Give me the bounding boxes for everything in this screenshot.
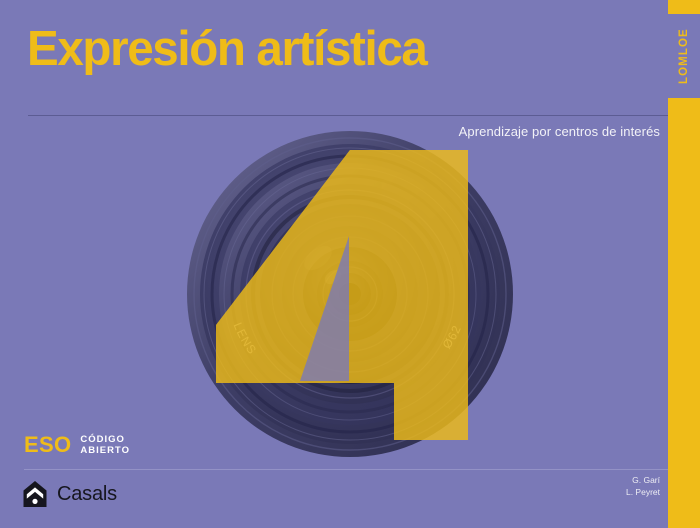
title-divider (28, 115, 668, 116)
subtitle: Aprendizaje por centros de interés (459, 124, 660, 139)
author-list: G. Garí L. Peyret (626, 474, 660, 498)
author-1: G. Garí (626, 474, 660, 486)
page-title: Expresión artística (27, 25, 427, 74)
author-2: L. Peyret (626, 486, 660, 498)
codigo-line2: ABIERTO (80, 445, 130, 456)
eso-brand-block: ESO CÓDIGO ABIERTO (24, 434, 130, 456)
book-cover: 105mm 1:2.8 LENS Ø62 (0, 0, 700, 528)
lomloe-label: LOMLOE (668, 14, 700, 98)
casals-shield-icon (22, 480, 48, 508)
eso-label: ESO (24, 434, 71, 456)
footer-divider (24, 469, 668, 470)
programa-codigo-abierto: CÓDIGO ABIERTO (80, 434, 130, 456)
publisher-block: Casals (22, 480, 117, 508)
publisher-name: Casals (57, 484, 117, 504)
codigo-line1: CÓDIGO (80, 434, 130, 445)
